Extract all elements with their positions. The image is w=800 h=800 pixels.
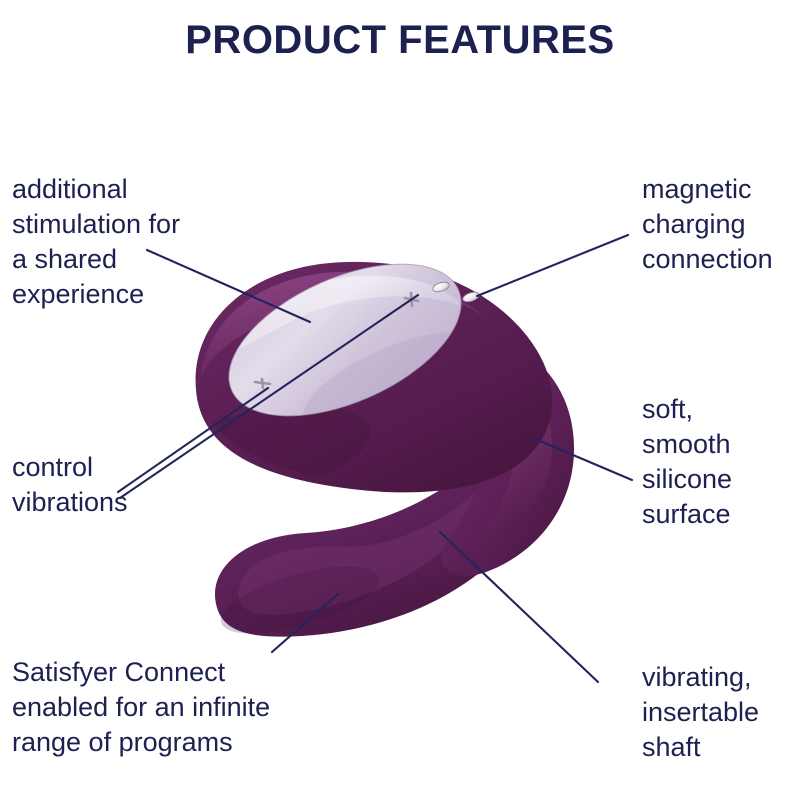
callout-control-vibrations: control vibrations (12, 450, 232, 520)
callout-satisfyer-connect: Satisfyer Connect enabled for an infinit… (12, 655, 352, 760)
product-features-infographic: PRODUCT FEATURES (0, 0, 800, 800)
callout-vibrating-shaft: vibrating, insertable shaft (642, 660, 800, 765)
callout-soft-silicone: soft, smooth silicone surface (642, 392, 800, 532)
callout-additional-stimulation: additional stimulation for a shared expe… (12, 172, 272, 312)
callout-magnetic-charging: magnetic charging connection (642, 172, 800, 277)
